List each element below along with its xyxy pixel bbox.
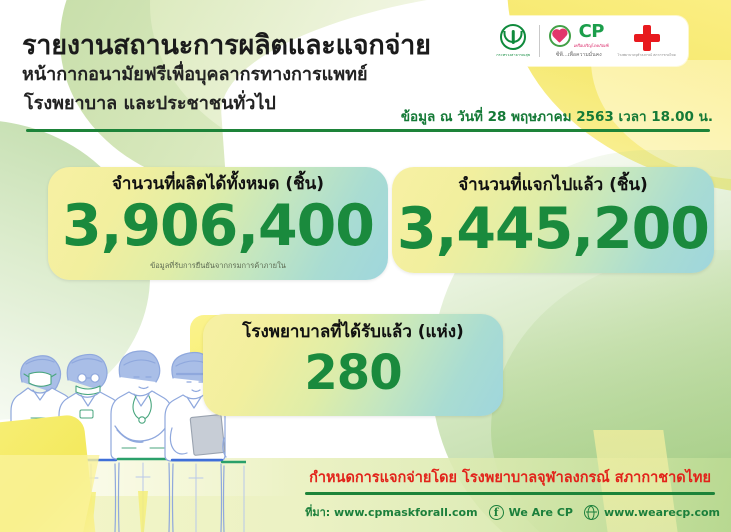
data-timestamp: ข้อมูล ณ วันที่ 28 พฤษภาคม 2563 เวลา 18.… <box>401 105 713 127</box>
facebook-link[interactable]: f We Are CP <box>489 505 573 520</box>
moph-logo: กระทรวงสาธารณสุข <box>496 24 530 58</box>
stat-card-distributed-title: จำนวนที่แจกไปแล้ว (ชิ้น) <box>458 177 648 194</box>
stat-card-produced-note: ข้อมูลที่รับการยืนยันจากกรมการค้าภายใน <box>150 260 286 272</box>
facebook-label: We Are CP <box>509 506 573 519</box>
stat-card-hospitals-value: 280 <box>304 349 401 397</box>
stat-card-hospitals: โรงพยาบาลที่ได้รับแล้ว (แห่ง) 280 <box>203 314 503 416</box>
stat-card-produced-value: 3,906,400 <box>62 198 374 255</box>
cp-seal-icon <box>549 25 571 47</box>
logo-group: กระทรวงสาธารณสุข CP เครือเจริญโภคภัณฑ์ ซ… <box>484 16 688 66</box>
ministry-of-public-health-icon <box>500 24 526 50</box>
poster-root: รายงานสถานะการผลิตและแจกจ่าย หน้ากากอนาม… <box>0 0 731 532</box>
footer-divider-rule <box>305 492 715 495</box>
red-cross-logo: โรงพยาบาลจุฬาลงกรณ์ สภากาชาดไทย <box>618 25 676 57</box>
stat-card-distributed-value: 3,445,200 <box>397 201 709 258</box>
green-swirl-right-inner <box>491 250 731 532</box>
page-subtitle-line-2: โรงพยาบาล และประชาชนทั่วไป <box>24 88 276 117</box>
heart-icon <box>553 30 566 43</box>
website-label: www.wearecp.com <box>604 506 720 519</box>
header: รายงานสถานะการผลิตและแจกจ่าย หน้ากากอนาม… <box>0 0 731 131</box>
stat-card-produced-title: จำนวนที่ผลิตได้ทั้งหมด (ชิ้น) <box>112 176 324 193</box>
logo-divider <box>539 25 540 57</box>
website-link[interactable]: www.wearecp.com <box>584 505 720 520</box>
stat-card-distributed: จำนวนที่แจกไปแล้ว (ชิ้น) 3,445,200 <box>392 167 714 273</box>
cp-logo: CP เครือเจริญโภคภัณฑ์ ซีพี...เพื่อความมั… <box>549 23 609 59</box>
red-cross-icon <box>634 25 660 51</box>
header-divider-rule <box>26 129 710 132</box>
cp-wordmark: CP <box>579 23 604 41</box>
moph-logo-caption: กระทรวงสาธารณสุข <box>496 52 530 58</box>
distribution-schedule-text: กำหนดการแจกจ่ายโดย โรงพยาบาลจุฬาลงกรณ์ ส… <box>309 466 711 489</box>
facebook-icon: f <box>489 505 504 520</box>
globe-icon <box>584 505 599 520</box>
stat-card-hospitals-title: โรงพยาบาลที่ได้รับแล้ว (แห่ง) <box>242 324 464 341</box>
page-subtitle-line-1: หน้ากากอนามัยฟรีเพื่อบุคลากรทางการแพทย์ <box>22 59 368 88</box>
cp-logo-slogan: ซีพี...เพื่อความมั่นคง <box>556 51 602 59</box>
cp-logo-mark: CP เครือเจริญโภคภัณฑ์ <box>549 23 609 49</box>
footer-links-bar: ที่มา: www.cpmaskforall.com f We Are CP … <box>300 500 720 524</box>
source-link[interactable]: ที่มา: www.cpmaskforall.com <box>305 503 477 521</box>
stat-card-produced: จำนวนที่ผลิตได้ทั้งหมด (ชิ้น) 3,906,400 … <box>48 167 388 280</box>
cp-wordmark-tagline: เครือเจริญโภคภัณฑ์ <box>574 42 609 49</box>
red-cross-logo-caption: โรงพยาบาลจุฬาลงกรณ์ สภากาชาดไทย <box>618 53 676 57</box>
